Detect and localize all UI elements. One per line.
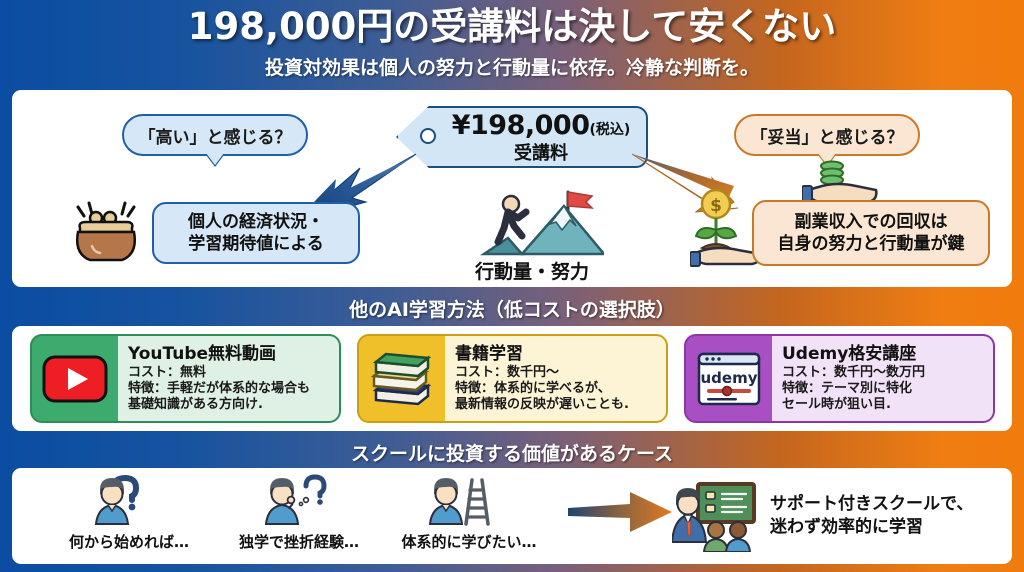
outcome-left-box: 個人の経済状況・ 学習期待値による <box>152 202 360 264</box>
youtube-card-body: YouTube無料動画 コスト：無料 特徴：手軽だが体系的な場合も 基礎知識があ… <box>118 336 339 421</box>
udemy-icon-wrap: udemy <box>686 336 772 421</box>
svg-text:$: $ <box>710 196 722 216</box>
page-header: 198,000円の受講料は決して安くない 投資対効果は個人の努力と行動量に依存。… <box>0 0 1024 88</box>
section-title-cases: スクールに投資する価値があるケース <box>0 436 1024 468</box>
card-feature-2: セール時が狙い目. <box>782 397 985 413</box>
section-title-methods: 他のAI学習方法（低コストの選択肢） <box>0 292 1024 324</box>
card-title: Udemy格安講座 <box>782 345 985 364</box>
person-thinking-icon <box>262 474 336 530</box>
page-subtitle: 投資対効果は個人の努力と行動量に依存。冷静な判断を。 <box>265 53 759 80</box>
udemy-icon: udemy <box>695 350 763 408</box>
outcome-right-line1: 副業収入での回収は <box>778 211 965 233</box>
arrow-to-outcome <box>568 492 672 532</box>
case-caption: 何から始めれば… <box>69 531 189 552</box>
books-icon <box>368 350 436 408</box>
method-card-books[interactable]: 書籍学習 コスト：数千円〜 特徴：体系的に学べるが、 最新情報の反映が遅いことも… <box>357 334 668 423</box>
card-title: YouTube無料動画 <box>128 345 331 364</box>
outcome-right-box: 副業収入での回収は 自身の努力と行動量が鍵 <box>752 200 990 266</box>
person-question-icon <box>92 474 166 530</box>
cases-panel: 何から始めれば… 独学で挫折経験… <box>12 468 1012 564</box>
price-tag: ¥198,000(税込) 受講料 <box>396 106 648 168</box>
bubble-reasonable: 「妥当」と感じる？ <box>734 114 920 156</box>
youtube-icon <box>42 355 108 403</box>
outcome-left-line1: 個人の経済状況・ <box>188 211 324 233</box>
case-item-systematic: 体系的に学びたい… <box>394 474 544 558</box>
case-item-failed-selfstudy: 独学で挫折経験… <box>224 474 374 558</box>
infographic-root: 198,000円の受講料は決して安くない 投資対効果は個人の努力と行動量に依存。… <box>0 0 1024 572</box>
methods-panel: YouTube無料動画 コスト：無料 特徴：手軽だが体系的な場合も 基礎知識があ… <box>12 326 1012 431</box>
price-tag-text: ¥198,000(税込) 受講料 <box>442 110 640 165</box>
card-feature-1: 特徴：手軽だが体系的な場合も <box>128 381 331 397</box>
page-title: 198,000円の受講料は決して安くない <box>188 8 836 47</box>
effort-label: 行動量・努力 <box>442 257 622 284</box>
coins-hand-icon <box>802 156 878 206</box>
outcome-school-line2: 迷わず効率的に学習 <box>770 516 973 539</box>
outcome-school-box: サポート付きスクールで、 迷わず効率的に学習 <box>672 476 997 556</box>
mountain-effort-icon <box>464 184 604 258</box>
case-caption: 独学で挫折経験… <box>239 531 359 552</box>
books-card-body: 書籍学習 コスト：数千円〜 特徴：体系的に学べるが、 最新情報の反映が遅いことも… <box>445 336 666 421</box>
svg-text:udemy: udemy <box>701 369 758 387</box>
outcome-left-line2: 学習期待値による <box>188 233 324 255</box>
case-item-start: 何から始めれば… <box>54 474 204 558</box>
wallet-icon <box>70 198 148 264</box>
card-feature-1: 特徴：体系的に学べるが、 <box>455 381 658 397</box>
udemy-card-body: Udemy格安講座 コスト：数千円〜数万円 特徴：テーマ別に特化 セール時が狙い… <box>772 336 993 421</box>
youtube-icon-wrap <box>32 336 118 421</box>
decision-panel: 「高い」と感じる？ 「妥当」と感じる？ ¥198,000(税込) 受講料 <box>12 90 1012 287</box>
outcome-school-line1: サポート付きスクールで、 <box>770 493 973 516</box>
card-feature-2: 基礎知識がある方向け. <box>128 397 331 413</box>
classroom-teacher-icon <box>672 480 764 552</box>
books-icon-wrap <box>359 336 445 421</box>
case-caption: 体系的に学びたい… <box>401 531 536 552</box>
card-cost: コスト：無料 <box>128 365 331 381</box>
card-feature-2: 最新情報の反映が遅いことも. <box>455 397 658 413</box>
outcome-school-text: サポート付きスクールで、 迷わず効率的に学習 <box>770 493 973 539</box>
bubble-expensive: 「高い」と感じる？ <box>122 114 308 156</box>
card-title: 書籍学習 <box>455 345 658 364</box>
outcome-right-line2: 自身の努力と行動量が鍵 <box>778 233 965 255</box>
person-ladder-icon <box>426 474 512 530</box>
method-card-youtube[interactable]: YouTube無料動画 コスト：無料 特徴：手軽だが体系的な場合も 基礎知識があ… <box>30 334 341 423</box>
price-tax-note: (税込) <box>589 122 630 138</box>
price-tag-hole-icon <box>420 128 436 144</box>
method-card-udemy[interactable]: udemy Udemy格安講座 コスト：数千円〜数万円 特徴：テーマ別に特化 セ… <box>684 334 995 423</box>
price-label: 受講料 <box>442 139 640 165</box>
card-cost: コスト：数千円〜 <box>455 365 658 381</box>
card-cost: コスト：数千円〜数万円 <box>782 365 985 381</box>
price-amount: ¥198,000 <box>452 110 590 141</box>
card-feature-1: 特徴：テーマ別に特化 <box>782 381 985 397</box>
